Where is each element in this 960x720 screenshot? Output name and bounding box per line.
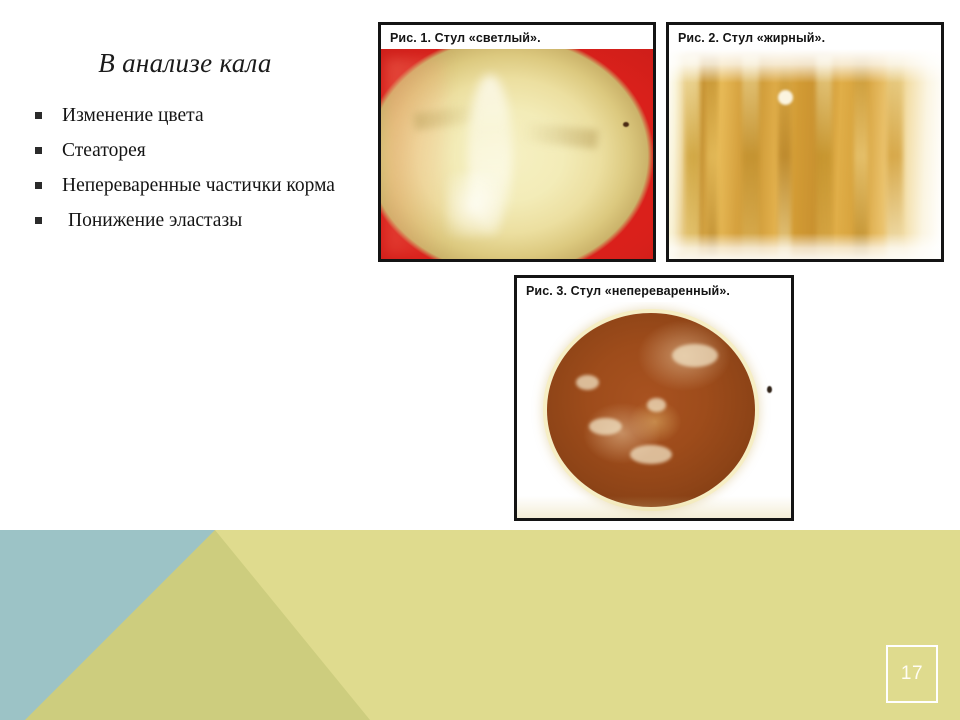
paper-bottom-edge: [669, 233, 941, 262]
figure-1: Рис. 1. Стул «светлый».: [378, 22, 656, 262]
grease-streak: [887, 55, 903, 256]
paper-top-edge: [669, 49, 941, 83]
slide-canvas: В анализе кала Изменение цвета Стеаторея…: [0, 0, 960, 720]
bullet-list: Изменение цвета Стеаторея Непереваренные…: [28, 101, 358, 241]
figure-2: Рис. 2. Стул «жирный».: [666, 22, 944, 262]
page-number-badge: 17: [886, 645, 938, 703]
grease-streak: [816, 55, 832, 256]
figure-1-caption: Рис. 1. Стул «светлый».: [381, 25, 653, 49]
figure-3-caption: Рис. 3. Стул «непереваренный».: [517, 278, 791, 302]
page-number-text: 17: [901, 663, 923, 685]
page-title: В анализе кала: [30, 46, 340, 80]
tray-rim-highlight: [386, 58, 446, 255]
paper-gap: [778, 90, 793, 105]
square-bullet-icon: [35, 217, 42, 224]
figure-3-photo: [517, 302, 791, 521]
list-item: Непереваренные частички корма: [28, 171, 358, 200]
figure-1-photo: [381, 49, 653, 262]
stool-fold-right: [522, 122, 600, 149]
list-item: Понижение эластазы: [28, 206, 358, 235]
list-item-label: Понижение эластазы: [68, 210, 242, 231]
list-item-label: Непереваренные частички корма: [62, 175, 335, 196]
undigested-particle: [647, 398, 666, 412]
figure-2-caption: Рис. 2. Стул «жирный».: [669, 25, 941, 49]
grease-streak: [854, 55, 868, 256]
stool-mass: [547, 313, 755, 507]
square-bullet-icon: [35, 182, 42, 189]
bowl-lower-edge: [517, 496, 791, 521]
dark-speck: [623, 122, 629, 127]
grease-streak: [707, 55, 718, 256]
list-item: Стеаторея: [28, 136, 358, 165]
square-bullet-icon: [35, 112, 42, 119]
grease-streak: [742, 55, 758, 256]
undigested-particle: [576, 375, 599, 390]
undigested-particle: [630, 445, 672, 464]
specular-highlight-lower: [446, 173, 500, 237]
undigested-particle: [672, 344, 718, 367]
list-item-label: Стеаторея: [62, 140, 146, 161]
decorative-footer-band: [0, 530, 960, 720]
list-item: Изменение цвета: [28, 101, 358, 130]
grease-streak: [685, 55, 699, 256]
undigested-particle: [589, 418, 622, 435]
list-item-label: Изменение цвета: [62, 105, 204, 126]
square-bullet-icon: [35, 147, 42, 154]
grease-streak: [778, 55, 792, 256]
figure-3: Рис. 3. Стул «непереваренный».: [514, 275, 794, 521]
dark-speck: [767, 386, 772, 393]
figure-2-photo: [669, 49, 941, 262]
